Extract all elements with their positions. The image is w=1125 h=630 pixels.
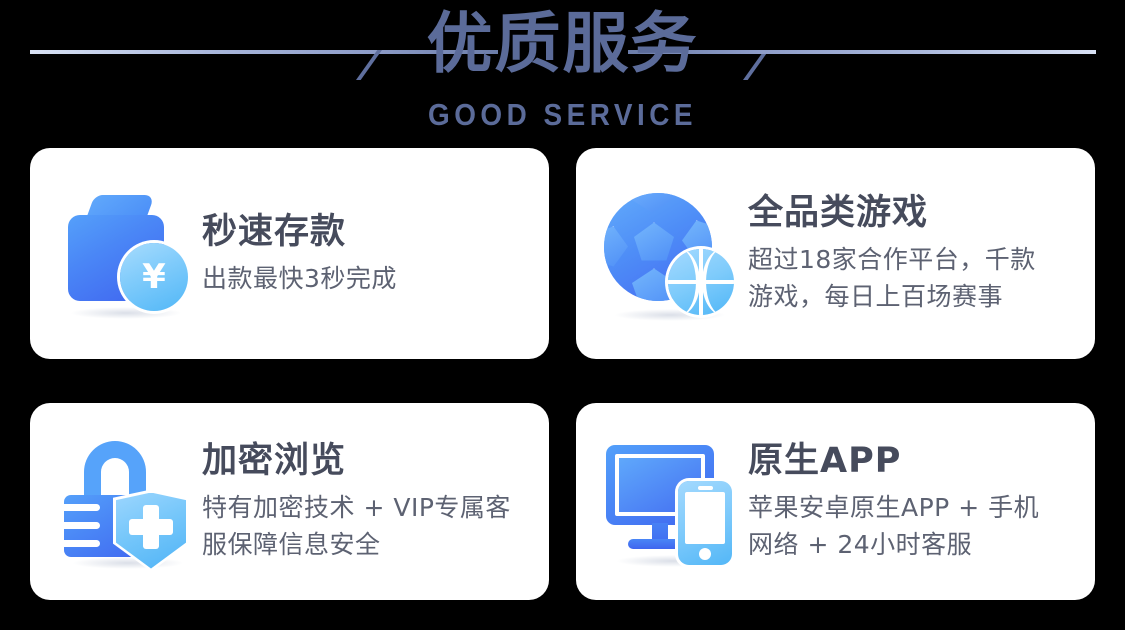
feature-card-fast-deposit[interactable]: ¥ 秒速存款 出款最快3秒完成 [30,148,549,359]
feature-card-native-app[interactable]: 原生APP 苹果安卓原生APP + 手机 网络 + 24小时客服 [576,403,1095,600]
page-title: 优质服务 [0,8,1125,80]
feature-card-grid: ¥ 秒速存款 出款最快3秒完成 [30,148,1095,600]
soccer-basketball-icon [602,189,742,319]
padlock-stripe [64,540,100,547]
card-description-line: 网络 + 24小时客服 [748,526,1077,563]
phone-home-button [699,548,711,560]
card-description: 特有加密技术 + VIP专属客 服保障信息安全 [202,489,531,563]
page-subtitle: GOOD SERVICE [56,98,1069,132]
padlock-stripe [64,504,100,511]
monitor-phone-icon [602,437,742,567]
yen-symbol: ¥ [142,260,166,294]
card-title: 加密浏览 [202,440,531,482]
card-description-line: 服保障信息安全 [202,526,531,563]
card-description: 出款最快3秒完成 [202,260,531,297]
basketball-seam-curve-right [702,249,734,315]
card-title: 原生APP [748,440,1077,482]
card-description: 超过18家合作平台，千款 游戏，每日上百场赛事 [748,241,1077,315]
card-text-block: 加密浏览 特有加密技术 + VIP专属客 服保障信息安全 [196,440,531,563]
card-title: 全品类游戏 [748,192,1077,234]
card-title: 秒速存款 [202,211,531,253]
banner-header: 优质服务 GOOD SERVICE [0,0,1125,142]
card-text-block: 全品类游戏 超过18家合作平台，千款 游戏，每日上百场赛事 [742,192,1077,315]
card-description-line: 游戏，每日上百场赛事 [748,278,1077,315]
wallet-yen-coin-icon: ¥ [56,189,196,319]
feature-card-encrypted-browsing[interactable]: 加密浏览 特有加密技术 + VIP专属客 服保障信息安全 [30,403,549,600]
soccer-panel-left [604,227,628,267]
card-description: 苹果安卓原生APP + 手机 网络 + 24小时客服 [748,489,1077,563]
card-description-line: 特有加密技术 + VIP专属客 [202,489,531,526]
phone-screen [685,492,725,544]
padlock-shield-icon [56,437,196,567]
feature-card-all-category-games[interactable]: 全品类游戏 超过18家合作平台，千款 游戏，每日上百场赛事 [576,148,1095,359]
basketball-icon [668,249,734,315]
card-text-block: 秒速存款 出款最快3秒完成 [196,211,531,297]
plus-icon-horizontal [129,519,173,535]
phone-speaker [698,486,713,490]
card-description-line: 超过18家合作平台，千款 [748,241,1077,278]
card-text-block: 原生APP 苹果安卓原生APP + 手机 网络 + 24小时客服 [742,440,1077,563]
basketball-seam-curve-left [668,249,700,315]
card-description-line: 出款最快3秒完成 [202,260,531,297]
card-description-line: 苹果安卓原生APP + 手机 [748,489,1077,526]
promo-banner: 优质服务 GOOD SERVICE ¥ 秒速存款 出款最快3秒 [0,0,1125,630]
smartphone-icon [678,481,732,565]
padlock-stripe [64,522,100,529]
monitor-stand-neck [652,523,668,541]
soccer-panel-top [630,193,674,213]
padlock-shackle-icon [84,441,146,501]
yen-coin-icon: ¥ [120,243,188,311]
